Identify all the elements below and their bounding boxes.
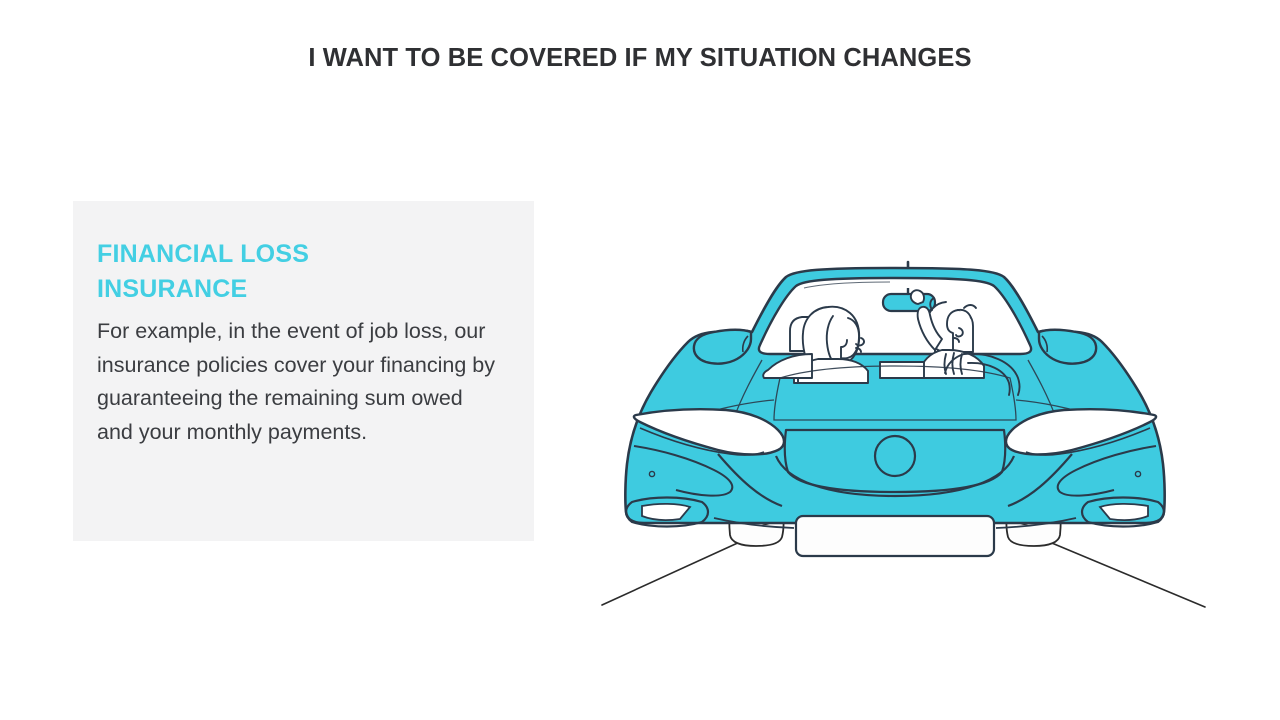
license-plate [796,516,994,556]
driver-hand [911,290,924,304]
info-card: FINANCIAL LOSS INSURANCE For example, in… [73,201,534,541]
slide-canvas: I WANT TO BE COVERED IF MY SITUATION CHA… [0,0,1280,720]
card-heading: FINANCIAL LOSS INSURANCE [97,237,397,307]
card-body-text: For example, in the event of job loss, o… [97,315,504,449]
center-divider [880,362,924,378]
ground-line-right [1047,541,1205,607]
ground-line-left [602,541,742,605]
page-title: I WANT TO BE COVERED IF MY SITUATION CHA… [0,44,1280,73]
car-illustration-svg [590,250,1220,615]
car-illustration [590,250,1220,615]
